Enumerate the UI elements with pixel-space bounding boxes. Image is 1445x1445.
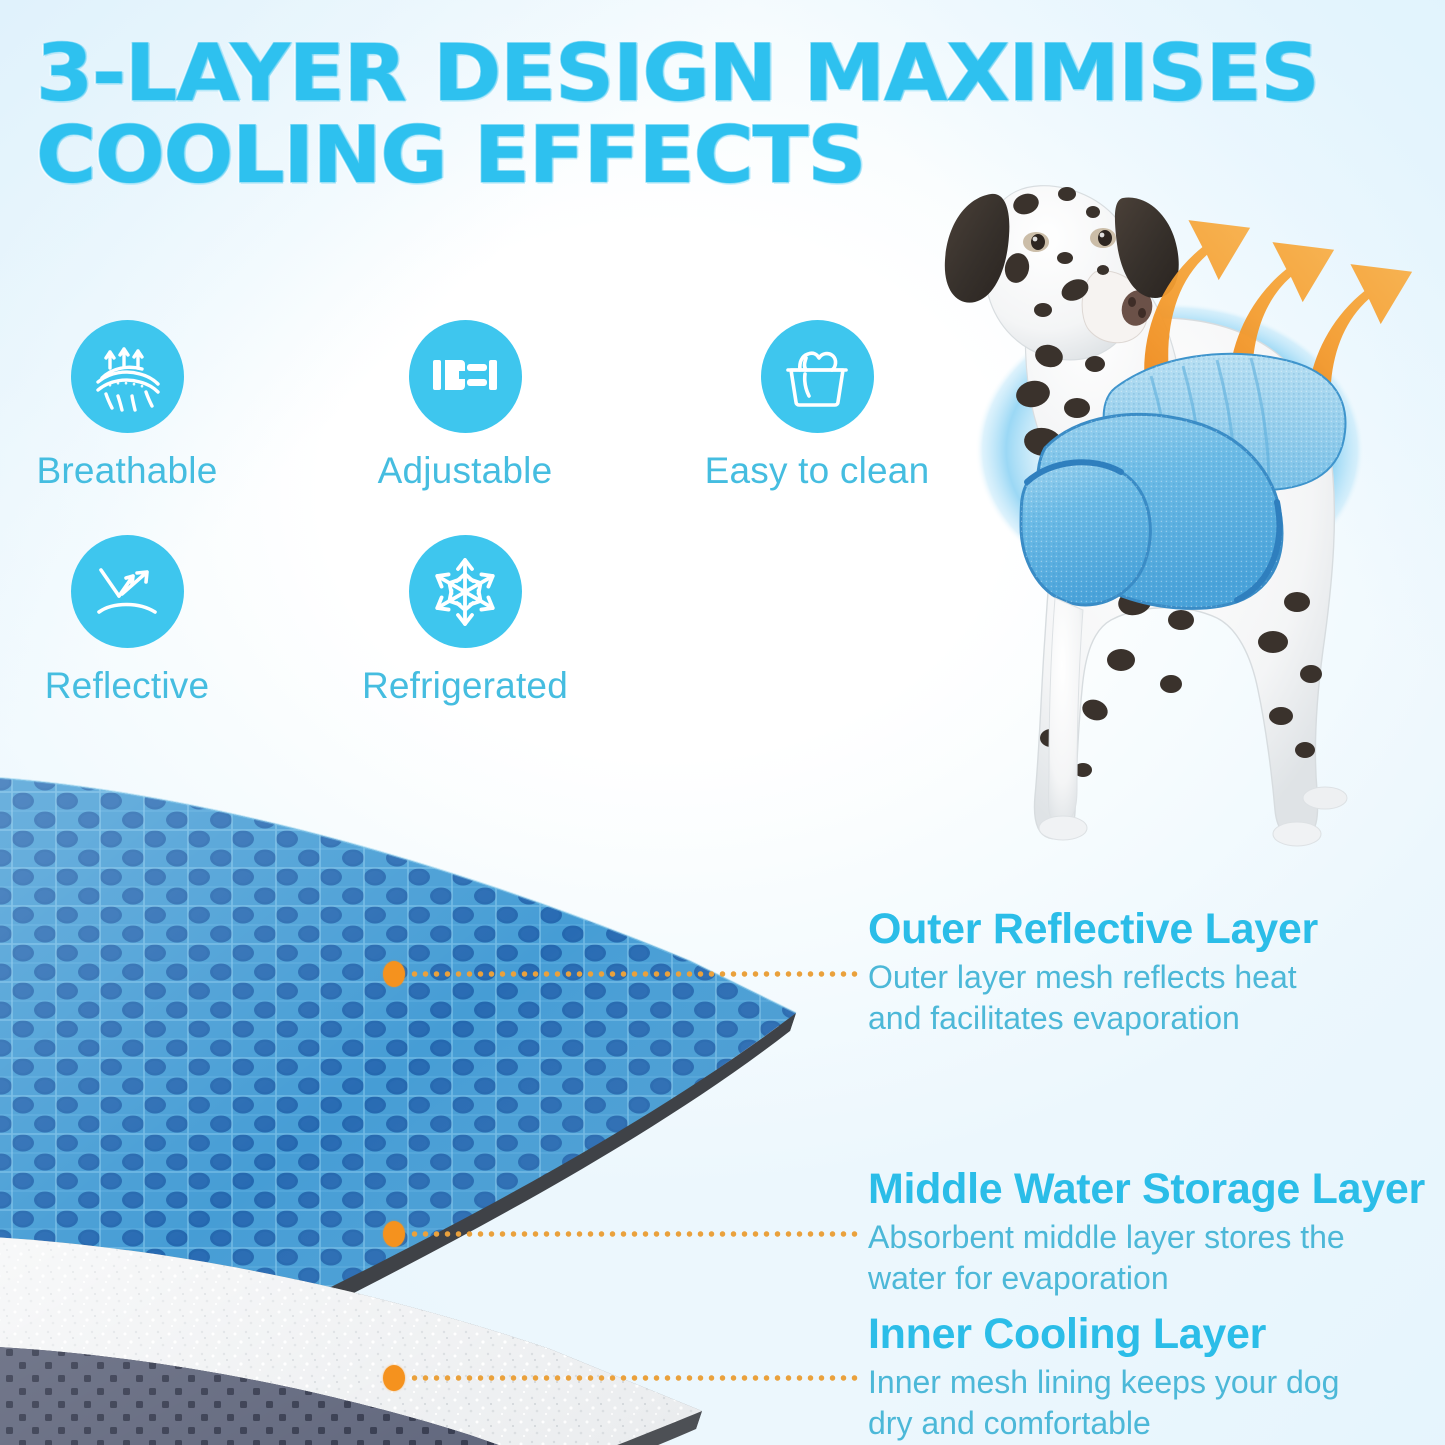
leader-line-outer — [383, 968, 858, 980]
buckle-icon — [409, 320, 522, 433]
leader-dots-inner — [409, 1374, 858, 1382]
callout-heading: Middle Water Storage Layer — [868, 1165, 1425, 1213]
feature-label: Reflective — [2, 666, 252, 706]
dog-photo-illustration — [925, 150, 1445, 890]
callout-heading: Inner Cooling Layer — [868, 1310, 1368, 1358]
feature-label: Breathable — [2, 451, 252, 491]
leader-dots-outer — [409, 970, 858, 978]
feature-breathable[interactable]: Breathable — [2, 320, 252, 491]
callout-outer[interactable]: Outer Reflective Layer Outer layer mesh … — [868, 905, 1338, 1039]
page-title: 3-LAYER DESIGN MAXIMISES COOLING EFFECTS — [36, 34, 1223, 196]
leader-line-inner — [383, 1372, 858, 1384]
feature-label: Adjustable — [340, 451, 590, 491]
product-photo — [925, 150, 1445, 890]
layer-swatches — [0, 735, 890, 1445]
feature-label: Refrigerated — [340, 666, 590, 706]
feature-reflective[interactable]: Reflective — [2, 535, 252, 706]
callout-middle[interactable]: Middle Water Storage Layer Absorbent mid… — [868, 1165, 1425, 1299]
fabric-layer-stack — [0, 735, 890, 1445]
feature-refrigerated[interactable]: Refrigerated — [340, 535, 590, 706]
feature-label: Easy to clean — [692, 451, 942, 491]
dog-front-leg-left — [1048, 598, 1083, 823]
product-infographic: 3-LAYER DESIGN MAXIMISES COOLING EFFECTS — [0, 0, 1445, 1445]
leader-dot-middle — [383, 1221, 405, 1247]
title-line-2: COOLING EFFECTS — [36, 116, 1223, 196]
snowflake-icon — [409, 535, 522, 648]
wash-basin-icon — [761, 320, 874, 433]
callout-body: Absorbent middle layer stores the water … — [868, 1217, 1368, 1299]
title-line-1: 3-LAYER DESIGN MAXIMISES — [36, 34, 1223, 114]
callout-body: Inner mesh lining keeps your dog dry and… — [868, 1362, 1368, 1444]
callout-heading: Outer Reflective Layer — [868, 905, 1338, 953]
feature-easy-to-clean[interactable]: Easy to clean — [692, 320, 942, 491]
callout-body: Outer layer mesh reflects heat and facil… — [868, 957, 1338, 1039]
callout-inner[interactable]: Inner Cooling Layer Inner mesh lining ke… — [868, 1310, 1368, 1444]
reflect-rays-icon — [71, 535, 184, 648]
leader-dot-outer — [383, 961, 405, 987]
leader-dots-middle — [409, 1230, 858, 1238]
leader-dot-inner — [383, 1365, 405, 1391]
breathable-fabric-icon — [71, 320, 184, 433]
leader-line-middle — [383, 1228, 858, 1240]
feature-adjustable[interactable]: Adjustable — [340, 320, 590, 491]
